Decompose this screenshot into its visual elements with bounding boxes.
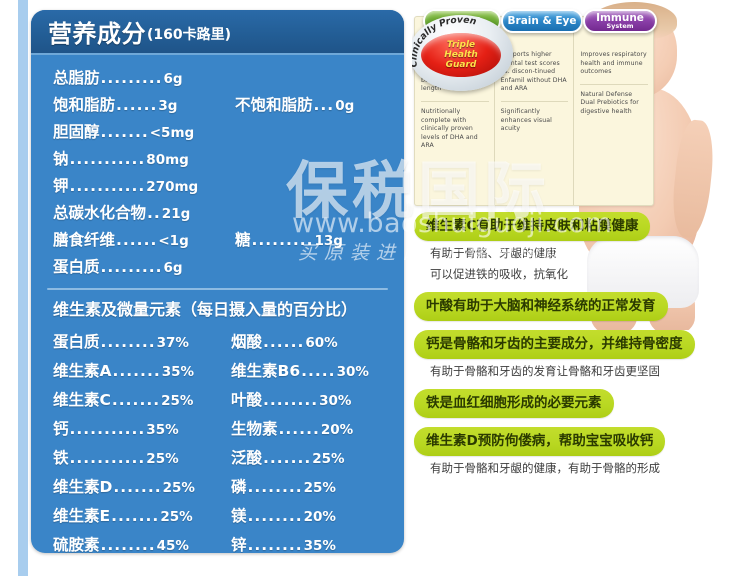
nutrient-label: 泛酸 [231,444,262,472]
nutrient-value: 25% [304,474,336,502]
nutrient-cell-right: 生物素......20% [231,415,401,444]
vitamins-section-title: 维生素及微量元素（每日摄入量的百分比） [31,296,404,320]
nutrient-cell-right [235,146,403,173]
nutrient-cell-left: 总脂肪.........6g [53,65,235,92]
nutrient-label: 维生素D [53,473,112,501]
leader-dots: ........ [101,328,156,356]
badge-line-3: Guard [444,60,478,70]
nutrient-label: 维生素E [53,502,110,530]
nutrient-value: 37% [157,329,189,357]
nutrient-label: 维生素C [53,386,111,414]
nutrient-value: 35% [304,532,336,553]
triple-health-guard-emblem: Triple Health Guard [421,33,501,77]
clinically-proven-badge: Clinically Proven Triple Health Guard [412,15,513,91]
benefit-callout-note: 有助于骨骼、牙龈的健康 [414,241,737,262]
nutrient-cell-right: 磷........25% [231,473,401,502]
nutrient-value: 60% [305,329,337,357]
leader-dots: ........... [70,173,146,199]
nutrient-value: <1g [158,228,188,254]
leader-dots: ........ [248,473,303,501]
page-margin-left [0,0,18,576]
benefit-callout-note: 有助于骨骼和牙齿的发育让骨骼和牙齿更坚固 [414,359,737,380]
benefit-callout: 维生素C有助于维持皮肤和粘膜健康有助于骨骼、牙龈的健康可以促进铁的吸收，抗氧化 [414,212,737,283]
nutrient-value: 270mg [146,174,198,200]
section-divider [47,288,388,290]
vitamin-row-list: 蛋白质........37%烟酸......60%维生素A.......35%维… [31,328,404,553]
nutrient-cell-left: 维生素C.......25% [53,386,231,415]
leader-dots: ........... [70,415,146,443]
health-guard-column-divider [501,101,569,102]
nutrient-row: 维生素C.......25%叶酸........30% [31,386,404,415]
badge-line-2: Health [444,50,478,60]
nutrient-row: 维生素E.......25%镁........20% [31,502,404,531]
product-detail-page: 营养成分 (160卡路里) 总脂肪.........6g饱和脂肪......3g… [0,0,755,576]
nutrient-value: 0g [335,93,354,119]
nutrient-row-list: 总脂肪.........6g饱和脂肪......3g不饱和脂肪...0g胆固醇.… [31,65,404,281]
right-column: Healthy growth patterns similar to breas… [412,0,737,576]
nutrient-label: 维生素A [53,357,112,385]
leader-dots: ........... [70,444,146,472]
nutrient-row: 钠...........80mg [31,146,404,173]
nutrient-cell-left: 维生素E.......25% [53,502,231,531]
nutrient-value: 20% [321,416,353,444]
nutrient-label: 钾 [53,173,69,199]
leader-dots: ........... [70,146,146,172]
nutrient-label: 胆固醇 [53,119,100,145]
nutrient-cell-left: 蛋白质........37% [53,328,231,357]
health-guard-pill: Brain & Eye [501,9,583,33]
nutrient-label: 蛋白质 [53,328,100,356]
nutrient-label: 蛋白质 [53,254,100,280]
leader-dots: ........ [248,502,303,530]
nutrient-cell-right [235,65,403,92]
nutrient-cell-right [235,119,403,146]
nutrient-value: 35% [146,416,178,444]
nutrient-value: 25% [161,387,193,415]
nutrient-cell-right: 烟酸......60% [231,328,401,357]
leader-dots: ... [314,92,335,118]
health-guard-pill-sublabel: System [606,23,633,30]
nutrient-value: 3g [158,93,177,119]
nutrition-card-header: 营养成分 (160卡路里) [31,10,404,55]
leader-dots: ....... [111,502,159,530]
nutrient-value: 20% [304,503,336,531]
nutrient-value: 6g [164,66,183,92]
nutrient-cell-left: 钾...........270mg [53,173,235,200]
nutrient-row: 总碳水化合物..21g [31,200,404,227]
benefit-callout-headline: 维生素D预防佝偻病，帮助宝宝吸收钙 [414,427,665,456]
nutrient-value: 21g [162,201,190,227]
nutrient-cell-left: 维生素D.......25% [53,473,231,502]
benefit-callout-note: 可以促进铁的吸收，抗氧化 [414,262,737,283]
health-guard-column-divider [421,101,489,102]
benefit-callout: 铁是血红细胞形成的必要元素 [414,389,737,418]
nutrient-label: 铁 [53,444,69,472]
nutrition-facts-card: 营养成分 (160卡路里) 总脂肪.........6g饱和脂肪......3g… [31,10,404,553]
nutrient-cell-right [235,173,403,200]
nutrient-row: 钾...........270mg [31,173,404,200]
health-guard-benefit-secondary: Natural Defense Dual Prebiotics for dige… [580,91,648,117]
nutrient-row: 铁...........25%泛酸.......25% [31,444,404,473]
calorie-subtitle: (160卡路里) [147,24,231,44]
nutrient-label: 总碳水化合物 [53,200,146,226]
leader-dots: ......... [101,65,163,91]
nutrient-cell-left: 胆固醇.......<5mg [53,119,235,146]
nutrient-label: 锌 [231,531,247,553]
leader-dots: ......... [101,254,163,280]
nutrient-value: 6g [164,255,183,281]
nutrient-row: 维生素D.......25%磷........25% [31,473,404,502]
nutrient-cell-right [235,200,403,227]
nutrient-label: 维生素B6 [231,357,300,385]
health-guard-column: Improves respiratory health and immune o… [574,17,653,205]
leader-dots: .. [147,200,161,226]
nutrient-cell-right: 不饱和脂肪...0g [235,92,403,119]
nutrient-value: 25% [312,445,344,473]
benefit-callout-headline: 维生素C有助于维持皮肤和粘膜健康 [414,212,650,241]
health-guard-benefit-secondary: Nutritionally complete with clinically p… [421,108,489,151]
nutrient-label: 生物素 [231,415,278,443]
nutrient-cell-right: 维生素B6.....30% [231,357,401,386]
nutrient-label: 膳食纤维 [53,227,115,253]
nutrient-label: 钠 [53,146,69,172]
health-guard-pill-label: Brain & Eye [508,15,577,27]
leader-dots: ...... [263,328,304,356]
nutrient-cell-left: 钙...........35% [53,415,231,444]
nutrient-cell-left: 硫胺素........45% [53,531,231,553]
leader-dots: ....... [113,357,161,385]
page-rail-left [18,0,28,576]
nutrient-label: 叶酸 [231,386,262,414]
nutrient-row: 总脂肪.........6g [31,65,404,92]
leader-dots: ....... [112,386,160,414]
nutrient-row: 钙...........35%生物素......20% [31,415,404,444]
page-title: 营养成分 [48,14,146,49]
nutrient-cell-right: 糖.........13g [235,227,403,254]
benefit-callout: 维生素D预防佝偻病，帮助宝宝吸收钙有助于骨骼和牙龈的健康，有助于骨骼的形成 [414,427,737,477]
nutrient-cell-left: 维生素A.......35% [53,357,231,386]
nutrient-cell-right: 镁........20% [231,502,401,531]
leader-dots: ........ [248,531,303,553]
leader-dots: ........ [263,386,318,414]
nutrient-value: 80mg [146,147,189,173]
health-guard-column-divider [580,84,648,85]
nutrient-cell-right: 锌........35% [231,531,401,553]
nutrient-value: 30% [319,387,351,415]
leader-dots: ...... [279,415,320,443]
benefit-callout-note: 有助于骨骼和牙龈的健康，有助于骨骼的形成 [414,456,737,477]
triple-health-guard-card: Healthy growth patterns similar to breas… [414,16,654,206]
nutrient-label: 饱和脂肪 [53,92,115,118]
leader-dots: ...... [116,227,157,253]
nutrient-cell-right [235,254,403,281]
nutrient-label: 糖 [235,227,251,253]
nutrient-cell-right: 泛酸.......25% [231,444,401,473]
benefit-callout-headline: 铁是血红细胞形成的必要元素 [414,389,614,418]
leader-dots: ....... [101,119,149,145]
nutrient-label: 烟酸 [231,328,262,356]
leader-dots: ......... [252,227,314,253]
nutrient-label: 镁 [231,502,247,530]
nutrient-row: 胆固醇.......<5mg [31,119,404,146]
benefit-callout-headline: 叶酸有助于大脑和神经系统的正常发育 [414,292,668,321]
benefit-callout-headline: 钙是骨骼和牙齿的主要成分，并维持骨密度 [414,330,695,359]
nutrient-value: 25% [163,474,195,502]
nutrient-cell-left: 铁...........25% [53,444,231,473]
benefit-callout: 钙是骨骼和牙齿的主要成分，并维持骨密度有助于骨骼和牙齿的发育让骨骼和牙齿更坚固 [414,330,737,380]
nutrient-row: 硫胺素........45%锌........35% [31,531,404,553]
nutrient-value: 25% [146,445,178,473]
nutrition-card-body: 总脂肪.........6g饱和脂肪......3g不饱和脂肪...0g胆固醇.… [31,55,404,553]
nutrient-value: 35% [162,358,194,386]
nutrient-value: 25% [160,503,192,531]
nutrient-row: 饱和脂肪......3g不饱和脂肪...0g [31,92,404,119]
benefit-callout-list: 维生素C有助于维持皮肤和粘膜健康有助于骨骼、牙龈的健康可以促进铁的吸收，抗氧化叶… [414,212,737,486]
nutrient-row: 维生素A.......35%维生素B6.....30% [31,357,404,386]
leader-dots: ....... [113,473,161,501]
nutrient-label: 总脂肪 [53,65,100,91]
nutrient-cell-left: 总碳水化合物..21g [53,200,235,227]
nutrient-label: 不饱和脂肪 [235,92,313,118]
nutrient-label: 钙 [53,415,69,443]
badge-line-1: Triple [444,40,478,50]
nutrient-cell-left: 钠...........80mg [53,146,235,173]
health-guard-benefit-primary: Improves respiratory health and immune o… [580,51,648,77]
nutrient-value: 30% [337,358,369,386]
health-guard-pill: ImmuneSystem [583,9,657,33]
nutrient-cell-left: 膳食纤维......<1g [53,227,235,254]
nutrient-cell-left: 蛋白质.........6g [53,254,235,281]
nutrient-label: 硫胺素 [53,531,100,553]
nutrient-value: <5mg [150,120,194,146]
nutrient-value: 45% [157,532,189,553]
benefit-callout: 叶酸有助于大脑和神经系统的正常发育 [414,292,737,321]
nutrient-label: 磷 [231,473,247,501]
leader-dots: ....... [263,444,311,472]
nutrient-row: 膳食纤维......<1g糖.........13g [31,227,404,254]
nutrient-cell-left: 饱和脂肪......3g [53,92,235,119]
leader-dots: ........ [101,531,156,553]
nutrient-row: 蛋白质.........6g [31,254,404,281]
nutrient-row: 蛋白质........37%烟酸......60% [31,328,404,357]
page-margin-right [737,0,755,576]
nutrient-cell-right: 叶酸........30% [231,386,401,415]
leader-dots: ..... [301,357,335,385]
nutrient-value: 13g [315,228,343,254]
leader-dots: ...... [116,92,157,118]
health-guard-benefit-secondary: Significantly enhances visual acuity [501,108,569,134]
